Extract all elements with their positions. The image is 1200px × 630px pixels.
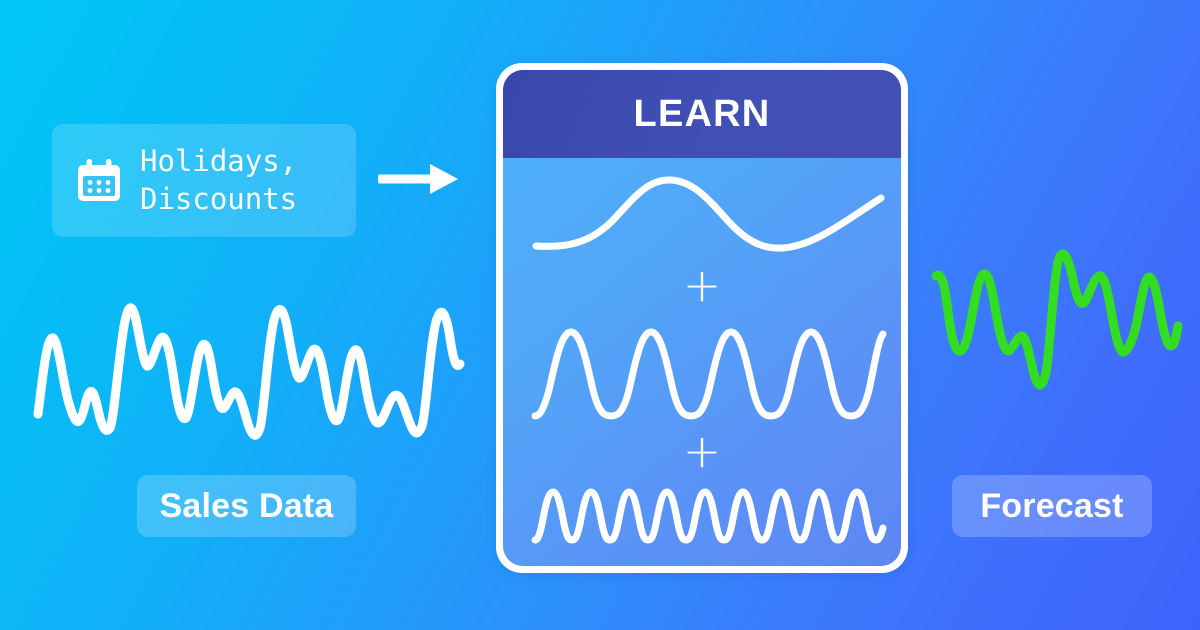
learn-card-body: + + (503, 158, 901, 566)
sales-data-waveform (34, 288, 464, 428)
learn-card: LEARN + + (496, 63, 908, 573)
arrow-right-icon (378, 160, 460, 198)
sales-data-label: Sales Data (137, 475, 356, 537)
learn-card-header: LEARN (503, 70, 901, 158)
operator-plus-1: + (503, 264, 901, 306)
inputs-chip: Holidays, Discounts (52, 124, 356, 237)
learn-card-title: LEARN (634, 93, 771, 136)
forecast-waveform (930, 250, 1180, 390)
residual-wave (503, 474, 901, 562)
seasonality-wave (503, 306, 901, 432)
forecast-label: Forecast (952, 475, 1152, 537)
trend-wave (503, 164, 901, 272)
operator-plus-2: + (503, 430, 901, 472)
infographic-canvas: Holidays, Discounts Sales Data LEARN (0, 0, 1200, 630)
inputs-chip-label: Holidays, Discounts (140, 143, 297, 217)
calendar-icon (74, 156, 124, 206)
